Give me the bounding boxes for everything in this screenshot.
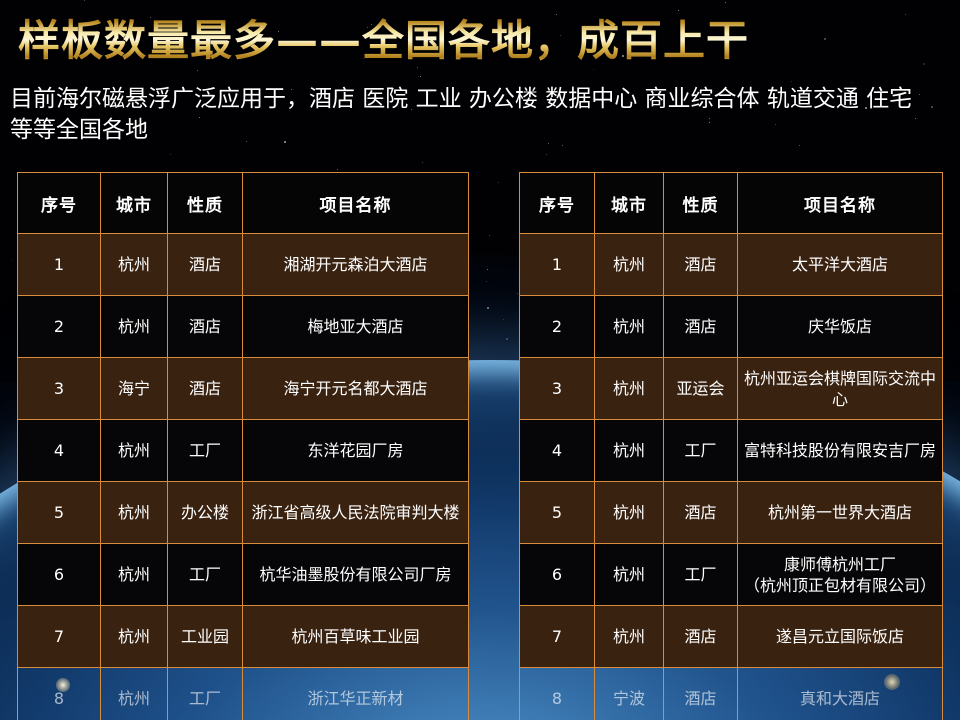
cell-type: 工业园 xyxy=(168,606,243,668)
cell-type: 工厂 xyxy=(168,544,243,606)
cell-no: 7 xyxy=(18,606,101,668)
table-row: 4杭州工厂东洋花园厂房 xyxy=(18,420,469,482)
cell-type: 酒店 xyxy=(168,296,243,358)
page-subtitle: 目前海尔磁悬浮广泛应用于，酒店 医院 工业 办公楼 数据中心 商业综合体 轨道交… xyxy=(10,84,940,146)
cell-no: 1 xyxy=(18,234,101,296)
cell-project-name: 梅地亚大酒店 xyxy=(243,296,469,358)
cell-city: 杭州 xyxy=(595,606,664,668)
column-header-type: 性质 xyxy=(664,173,738,234)
cell-no: 4 xyxy=(520,420,595,482)
table-row: 5杭州办公楼浙江省高级人民法院审判大楼 xyxy=(18,482,469,544)
cell-city: 杭州 xyxy=(595,234,664,296)
cell-no: 8 xyxy=(18,668,101,720)
table-body-left: 1杭州酒店湘湖开元森泊大酒店2杭州酒店梅地亚大酒店3海宁酒店海宁开元名都大酒店4… xyxy=(18,234,469,720)
cell-type: 酒店 xyxy=(168,358,243,420)
column-header-name: 项目名称 xyxy=(738,173,943,234)
table-row: 5杭州酒店杭州第一世界大酒店 xyxy=(520,482,943,544)
cell-no: 5 xyxy=(520,482,595,544)
cell-type: 工厂 xyxy=(664,544,738,606)
cell-project-name: 遂昌元立国际饭店 xyxy=(738,606,943,668)
cell-type: 酒店 xyxy=(168,234,243,296)
table-row: 2杭州酒店梅地亚大酒店 xyxy=(18,296,469,358)
cell-type: 酒店 xyxy=(664,668,738,720)
table-row: 8杭州工厂浙江华正新材 xyxy=(18,668,469,720)
cell-city: 杭州 xyxy=(101,544,168,606)
table-body-right: 1杭州酒店太平洋大酒店2杭州酒店庆华饭店3杭州亚运会杭州亚运会棋牌国际交流中心4… xyxy=(520,234,943,720)
cell-project-name: 东洋花园厂房 xyxy=(243,420,469,482)
cell-no: 4 xyxy=(18,420,101,482)
cell-type: 工厂 xyxy=(168,420,243,482)
cell-project-name: 真和大酒店 xyxy=(738,668,943,720)
cell-project-name: 海宁开元名都大酒店 xyxy=(243,358,469,420)
cell-city: 宁波 xyxy=(595,668,664,720)
cell-type: 酒店 xyxy=(664,234,738,296)
cell-project-name: 富特科技股份有限安吉厂房 xyxy=(738,420,943,482)
table-row: 1杭州酒店湘湖开元森泊大酒店 xyxy=(18,234,469,296)
column-header-no: 序号 xyxy=(18,173,101,234)
table-row: 4杭州工厂富特科技股份有限安吉厂房 xyxy=(520,420,943,482)
cell-project-name: 浙江华正新材 xyxy=(243,668,469,720)
cell-project-name: 庆华饭店 xyxy=(738,296,943,358)
cell-city: 杭州 xyxy=(101,668,168,720)
table-header-left: 序号 城市 性质 项目名称 xyxy=(18,173,469,234)
cell-project-name: 湘湖开元森泊大酒店 xyxy=(243,234,469,296)
cell-no: 1 xyxy=(520,234,595,296)
cell-city: 杭州 xyxy=(595,358,664,420)
column-header-no: 序号 xyxy=(520,173,595,234)
page-title: 样板数量最多——全国各地，成百上干 xyxy=(18,14,749,68)
cell-type: 酒店 xyxy=(664,296,738,358)
table-row: 3海宁酒店海宁开元名都大酒店 xyxy=(18,358,469,420)
cell-type: 亚运会 xyxy=(664,358,738,420)
table-row: 3杭州亚运会杭州亚运会棋牌国际交流中心 xyxy=(520,358,943,420)
cell-project-name: 杭州第一世界大酒店 xyxy=(738,482,943,544)
cell-type: 工厂 xyxy=(168,668,243,720)
cell-project-name: 康师傅杭州工厂（杭州顶正包材有限公司） xyxy=(738,544,943,606)
cell-project-name: 杭州亚运会棋牌国际交流中心 xyxy=(738,358,943,420)
cell-no: 6 xyxy=(520,544,595,606)
cell-city: 杭州 xyxy=(595,482,664,544)
cell-project-name: 太平洋大酒店 xyxy=(738,234,943,296)
cell-city: 杭州 xyxy=(595,544,664,606)
cell-city: 杭州 xyxy=(101,482,168,544)
cell-city: 海宁 xyxy=(101,358,168,420)
cell-project-name: 浙江省高级人民法院审判大楼 xyxy=(243,482,469,544)
cell-city: 杭州 xyxy=(101,606,168,668)
table-row: 7杭州酒店遂昌元立国际饭店 xyxy=(520,606,943,668)
cell-project-name: 杭州百草味工业园 xyxy=(243,606,469,668)
cell-no: 8 xyxy=(520,668,595,720)
cell-type: 酒店 xyxy=(664,482,738,544)
cell-city: 杭州 xyxy=(101,420,168,482)
column-header-city: 城市 xyxy=(101,173,168,234)
cell-no: 6 xyxy=(18,544,101,606)
cell-no: 3 xyxy=(520,358,595,420)
column-header-name: 项目名称 xyxy=(243,173,469,234)
cell-no: 2 xyxy=(18,296,101,358)
slide-canvas: 样板数量最多——全国各地，成百上干 目前海尔磁悬浮广泛应用于，酒店 医院 工业 … xyxy=(0,0,960,720)
table-header-row: 序号 城市 性质 项目名称 xyxy=(18,173,469,234)
cell-no: 5 xyxy=(18,482,101,544)
cell-type: 酒店 xyxy=(664,606,738,668)
column-header-type: 性质 xyxy=(168,173,243,234)
project-table-right: 序号 城市 性质 项目名称 1杭州酒店太平洋大酒店2杭州酒店庆华饭店3杭州亚运会… xyxy=(519,172,943,720)
project-table-left: 序号 城市 性质 项目名称 1杭州酒店湘湖开元森泊大酒店2杭州酒店梅地亚大酒店3… xyxy=(17,172,469,720)
cell-city: 杭州 xyxy=(101,296,168,358)
cell-city: 杭州 xyxy=(101,234,168,296)
table-header-right: 序号 城市 性质 项目名称 xyxy=(520,173,943,234)
cell-type: 办公楼 xyxy=(168,482,243,544)
cell-no: 7 xyxy=(520,606,595,668)
column-header-city: 城市 xyxy=(595,173,664,234)
cell-no: 2 xyxy=(520,296,595,358)
cell-city: 杭州 xyxy=(595,296,664,358)
table-row: 7杭州工业园杭州百草味工业园 xyxy=(18,606,469,668)
table-row: 2杭州酒店庆华饭店 xyxy=(520,296,943,358)
cell-city: 杭州 xyxy=(595,420,664,482)
table-header-row: 序号 城市 性质 项目名称 xyxy=(520,173,943,234)
cell-type: 工厂 xyxy=(664,420,738,482)
table-row: 1杭州酒店太平洋大酒店 xyxy=(520,234,943,296)
table-row: 6杭州工厂康师傅杭州工厂（杭州顶正包材有限公司） xyxy=(520,544,943,606)
table-row: 6杭州工厂杭华油墨股份有限公司厂房 xyxy=(18,544,469,606)
cell-no: 3 xyxy=(18,358,101,420)
table-row: 8宁波酒店真和大酒店 xyxy=(520,668,943,720)
cell-project-name: 杭华油墨股份有限公司厂房 xyxy=(243,544,469,606)
